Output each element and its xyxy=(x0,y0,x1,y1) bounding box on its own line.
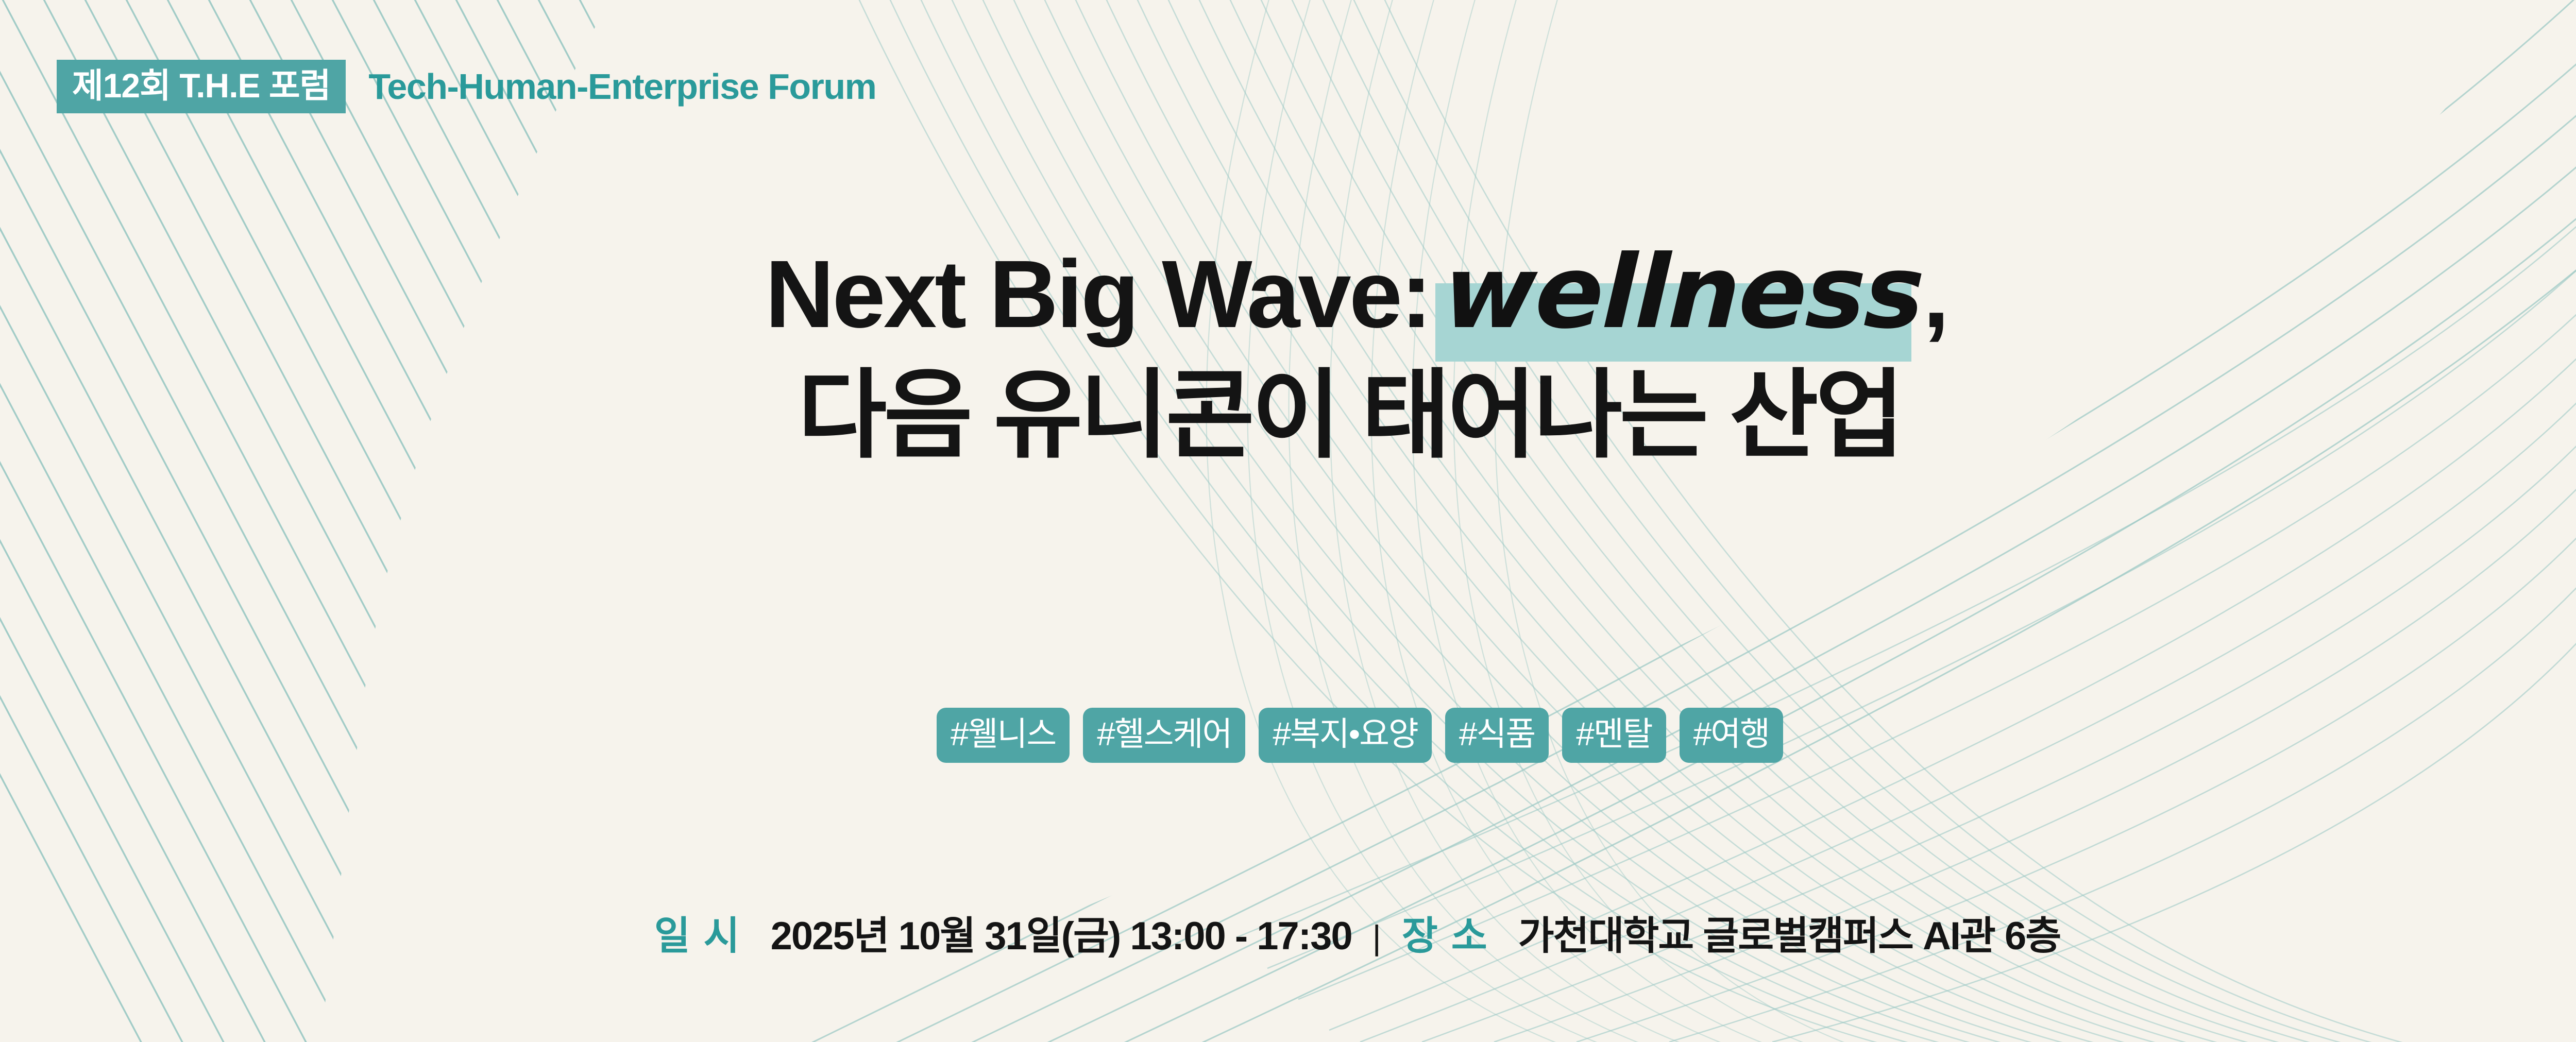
date-value: 2025년 10월 31일(금) 13:00 - 17:30 xyxy=(757,904,1352,961)
venue-label: 장소 xyxy=(1402,904,1505,961)
topic-tag-healthcare[interactable]: #헬스케어 xyxy=(1083,708,1245,763)
headline-highlight-word: wellness xyxy=(1442,242,1925,343)
forum-subtitle: Tech-Human-Enterprise Forum xyxy=(368,66,876,107)
topic-tag-mental[interactable]: #멘탈 xyxy=(1562,708,1666,763)
forum-promo-banner: 제12회 T.H.E 포럼 Tech-Human-Enterprise Foru… xyxy=(0,0,2576,1042)
headline-line-2: 다음 유니콘이 태어나는 산업 xyxy=(0,367,2576,464)
date-label: 일시 xyxy=(654,904,757,961)
edition-badge: 제12회 T.H.E 포럼 xyxy=(57,60,346,113)
topic-tag-welfare-care[interactable]: #복지•요양 xyxy=(1259,708,1432,763)
headline-line-1: Next Big Wave:wellness, xyxy=(0,242,2576,343)
topic-tag-row: #웰니스 #헬스케어 #복지•요양 #식품 #멘탈 #여행 xyxy=(0,708,2576,763)
headline-highlight-wrap: wellness xyxy=(1444,242,1923,343)
background-diagonal-lines xyxy=(0,0,2576,1042)
headline-plain-text: Next Big Wave: xyxy=(765,241,1430,348)
info-separator: | xyxy=(1352,918,1402,957)
event-info-bar: 일시 2025년 10월 31일(금) 13:00 - 17:30 | 장소 가… xyxy=(0,904,2576,961)
topic-tag-wellness[interactable]: #웰니스 xyxy=(937,708,1070,763)
headline-block: Next Big Wave:wellness, 다음 유니콘이 태어나는 산업 xyxy=(0,242,2576,464)
headline-comma: , xyxy=(1923,241,1950,348)
topic-tag-travel[interactable]: #여행 xyxy=(1680,708,1783,763)
venue-value: 가천대학교 글로벌캠퍼스 AI관 6층 xyxy=(1505,904,2061,961)
topic-tag-food[interactable]: #식품 xyxy=(1445,708,1549,763)
banner-header: 제12회 T.H.E 포럼 Tech-Human-Enterprise Foru… xyxy=(57,60,876,113)
